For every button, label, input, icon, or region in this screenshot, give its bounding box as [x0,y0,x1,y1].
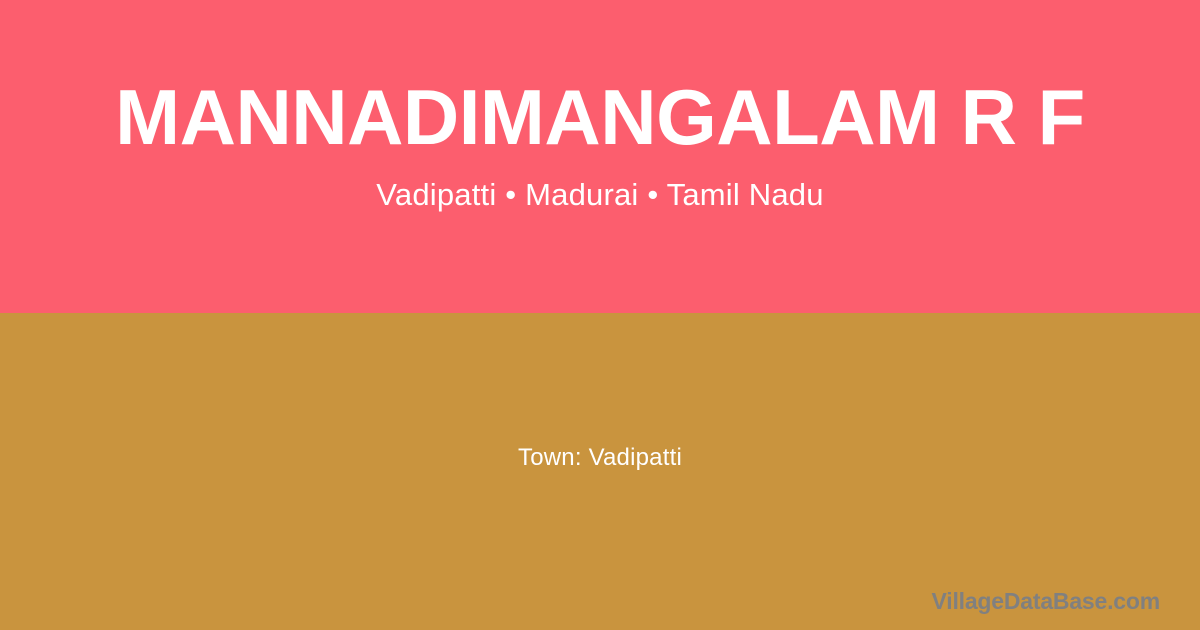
location-breadcrumb: Vadipatti • Madurai • Tamil Nadu [0,176,1200,215]
header-band: MANNADIMANGALAM R F Vadipatti • Madurai … [0,0,1200,313]
page-title: MANNADIMANGALAM R F [0,78,1200,156]
town-meta-line: Town: Vadipatti [518,442,682,473]
site-watermark: VillageDataBase.com [932,588,1160,616]
detail-band: Town: Vadipatti VillageDataBase.com [0,313,1200,630]
village-info-card: MANNADIMANGALAM R F Vadipatti • Madurai … [0,0,1200,630]
